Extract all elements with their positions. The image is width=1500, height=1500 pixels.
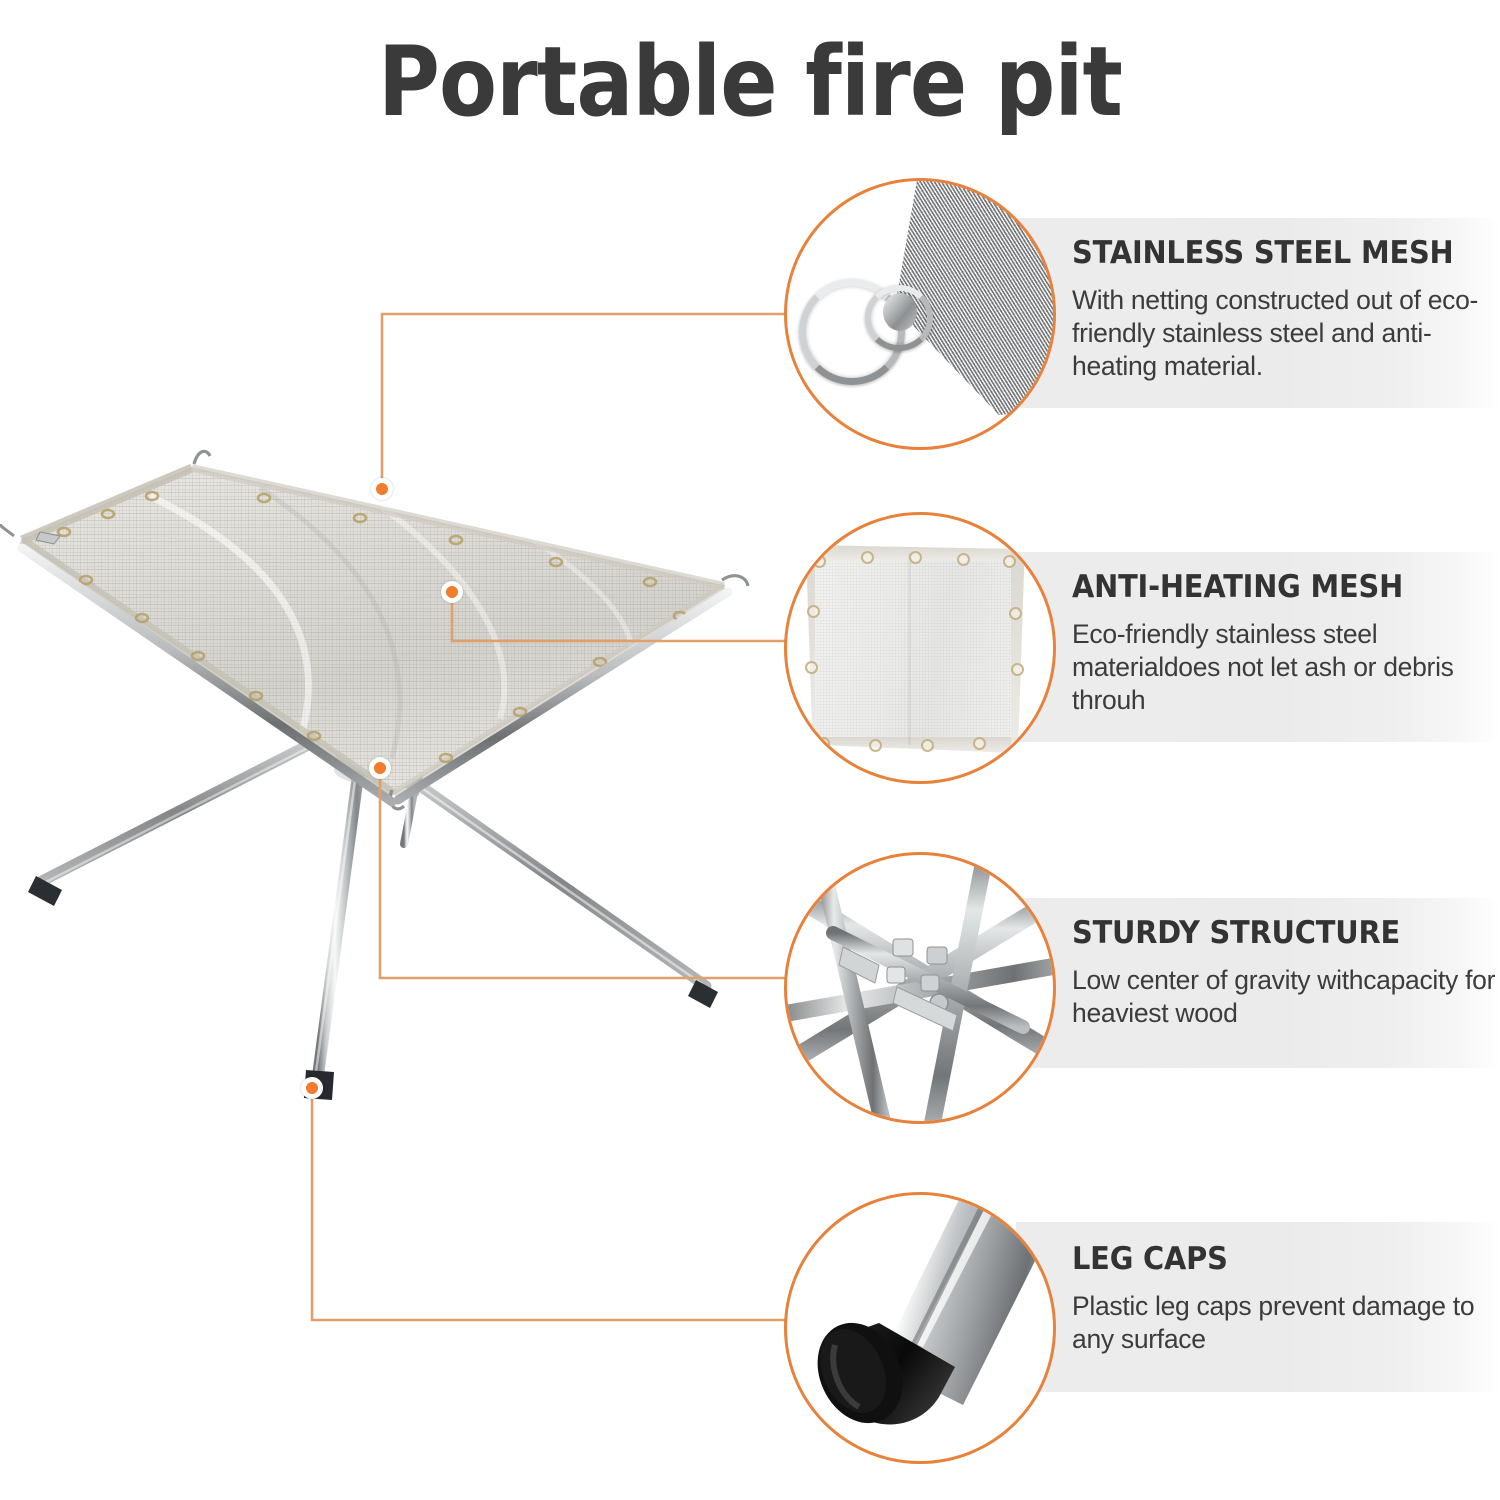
grommet-icon xyxy=(973,737,986,750)
frame-joint-drawing xyxy=(787,855,1053,1121)
grommet-icon xyxy=(1003,555,1016,568)
callout-leg-caps[interactable] xyxy=(784,1192,1056,1464)
marker-dot-leg-cap[interactable] xyxy=(301,1077,323,1099)
grommet-icon xyxy=(861,551,874,564)
sheet-hem-left xyxy=(799,545,815,753)
marker-dot-mesh-surface[interactable] xyxy=(441,581,463,603)
ring-grommet-icon xyxy=(883,293,917,331)
feature-title-sturdy-structure: STURDY STRUCTURE xyxy=(1072,916,1400,950)
grommet-icon xyxy=(807,605,820,618)
mesh-sheet-photo xyxy=(787,515,1053,781)
feature-title-leg-caps: LEG CAPS xyxy=(1072,1242,1228,1276)
feature-body-stainless-steel-mesh: With netting constructed out of eco-frie… xyxy=(1072,284,1492,383)
product-illustration xyxy=(0,440,790,1160)
feature-title-anti-heating-mesh: ANTI-HEATING MESH xyxy=(1072,570,1403,604)
sheet-fold xyxy=(908,553,911,744)
feature-body-anti-heating-mesh: Eco-friendly stainless steel materialdoe… xyxy=(1072,618,1492,717)
mesh-basin xyxy=(0,451,748,809)
callout-stainless-steel-mesh[interactable] xyxy=(784,178,1056,450)
leg-caps-on-product xyxy=(28,876,718,1100)
sheet-hem-bottom xyxy=(799,737,1027,753)
grommet-icon xyxy=(805,661,818,674)
flat-mesh-sheet xyxy=(799,545,1027,753)
sheet-hem-right xyxy=(1011,545,1027,753)
grommet-icon xyxy=(817,737,830,750)
feature-body-leg-caps: Plastic leg caps prevent damage to any s… xyxy=(1072,1290,1492,1356)
grommet-icon xyxy=(869,739,882,752)
leg-cap-photo xyxy=(787,1195,1053,1461)
callout-sturdy-structure[interactable] xyxy=(784,852,1056,1124)
feature-body-sturdy-structure: Low center of gravity withcapacity for h… xyxy=(1072,964,1500,1030)
marker-dot-frame-joint[interactable] xyxy=(369,757,391,779)
mesh-ring-photo xyxy=(787,181,1053,447)
grommet-icon xyxy=(957,553,970,566)
frame-joint-photo xyxy=(787,855,1053,1121)
grommet-icon xyxy=(921,739,934,752)
marker-dot-mesh-corner-ring[interactable] xyxy=(371,478,393,500)
grommet-icon xyxy=(813,555,826,568)
page-title: Portable fire pit xyxy=(90,32,1410,132)
grommet-icon xyxy=(1011,663,1024,676)
callout-anti-heating-mesh[interactable] xyxy=(784,512,1056,784)
fire-pit-stand-drawing xyxy=(0,440,790,1160)
leg-cap-drawing xyxy=(787,1195,1053,1461)
feature-title-stainless-steel-mesh: STAINLESS STEEL MESH xyxy=(1072,236,1453,270)
grommet-icon xyxy=(909,551,922,564)
product-infographic: Portable fire pit xyxy=(0,0,1500,1500)
grommet-icon xyxy=(1009,607,1022,620)
